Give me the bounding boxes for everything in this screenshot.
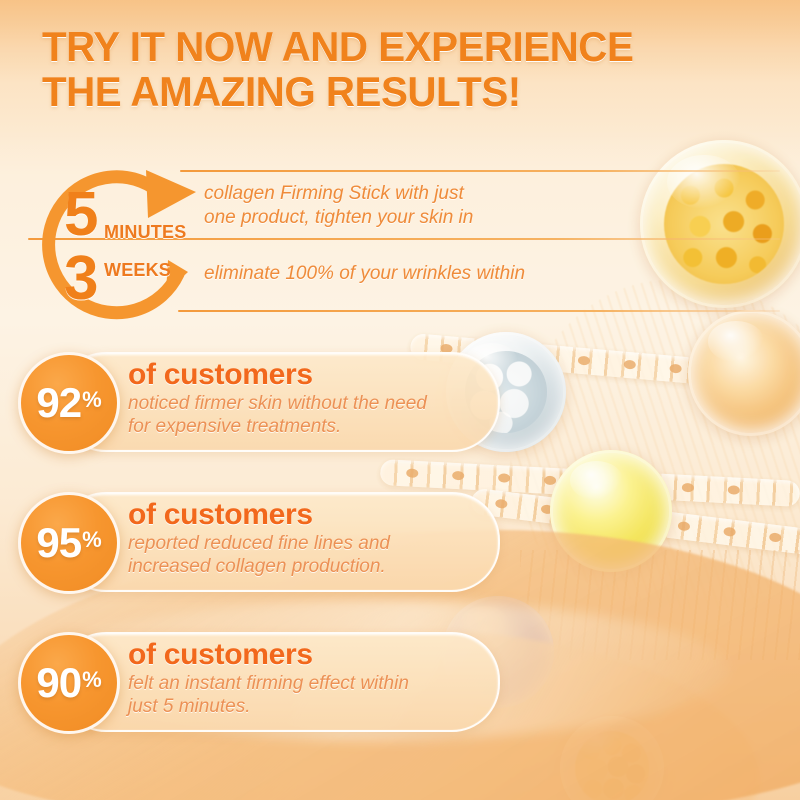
stat-badge: 95 % [18, 492, 120, 594]
stat-body: reported reduced fine lines and increase… [128, 532, 390, 578]
yellow-oil-sphere-icon [550, 450, 672, 572]
cell-strand [470, 488, 800, 563]
divider-line [180, 170, 780, 172]
stat-badge-inner: 92 % [36, 382, 101, 424]
time-promise-text-2: eliminate 100% of your wrinkles within [204, 262, 525, 286]
circular-arrow-icon [28, 152, 210, 334]
stat-badge: 92 % [18, 352, 120, 454]
duration-unit-minutes: MINUTES [104, 222, 186, 243]
time-promise-block: 5 MINUTES 3 WEEKS collagen Firming Stick… [28, 152, 768, 332]
duration-number-minutes: 5 [64, 184, 98, 246]
stat-percent-value: 92 [36, 382, 81, 424]
percent-sign: % [82, 529, 102, 551]
percent-sign: % [82, 669, 102, 691]
stat-percent-value: 95 [36, 522, 81, 564]
stat-badge: 90 % [18, 632, 120, 734]
duration-number-weeks: 3 [64, 248, 98, 310]
stat-heading: of customers [128, 638, 313, 672]
stat-body: noticed firmer skin without the need for… [128, 392, 427, 438]
stat-heading: of customers [128, 498, 313, 532]
stat-heading: of customers [128, 358, 313, 392]
divider-line [178, 310, 780, 312]
poster-canvas: TRY IT NOW AND EXPERIENCE THE AMAZING RE… [0, 0, 800, 800]
stat-badge-inner: 90 % [36, 662, 101, 704]
time-promise-text-1: collagen Firming Stick with just one pro… [204, 182, 473, 230]
honeycomb-sphere-small-icon [560, 716, 664, 800]
page-title: TRY IT NOW AND EXPERIENCE THE AMAZING RE… [42, 24, 714, 114]
collagen-fringe-texture [520, 550, 800, 660]
percent-sign: % [82, 389, 102, 411]
stat-body: felt an instant firming effect within ju… [128, 672, 409, 718]
duration-unit-weeks: WEEKS [104, 260, 171, 281]
stat-percent-value: 90 [36, 662, 81, 704]
stat-badge-inner: 95 % [36, 522, 101, 564]
